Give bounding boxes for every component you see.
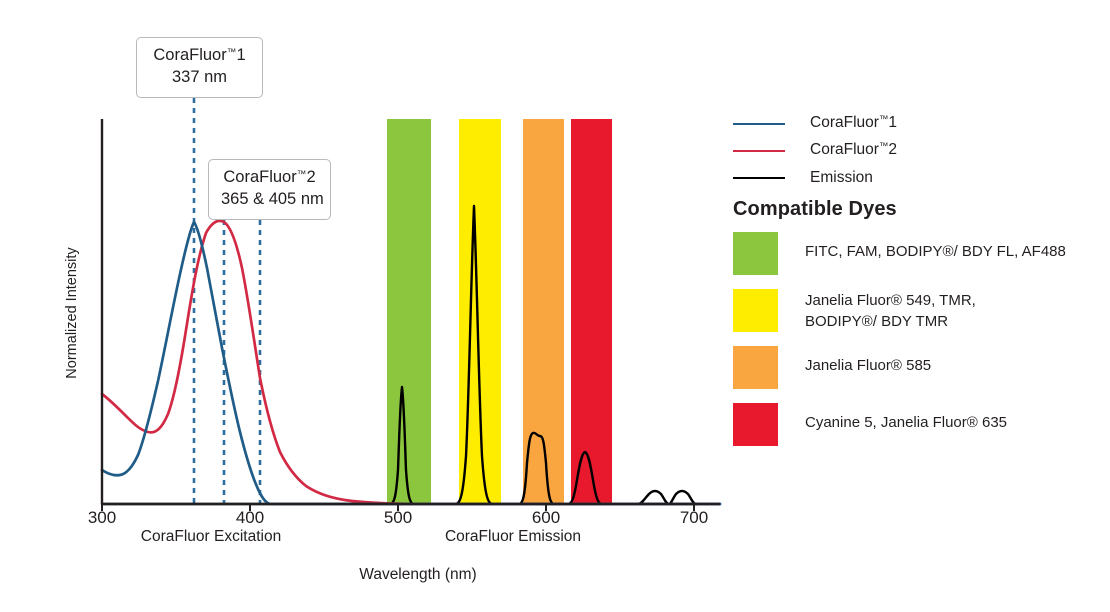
x-group-label-emission: CoraFluor Emission	[368, 528, 658, 546]
trademark-icon: ™	[297, 169, 307, 180]
trademark-icon: ™	[227, 47, 237, 58]
dye-item-yellow: Janelia Fluor® 549, TMR, BODIPY®/ BDY TM…	[730, 289, 1110, 332]
legend-item-emission: Emission	[730, 164, 1110, 191]
compatible-dyes-heading: Compatible Dyes	[733, 198, 897, 221]
legend-line-corafluor2	[733, 150, 785, 152]
x-tick-label-500: 500	[363, 508, 433, 528]
trademark-icon: ™	[879, 114, 889, 125]
x-tick-label-300: 300	[67, 508, 137, 528]
legend-line-corafluor1	[733, 123, 785, 125]
x-tick-label-600: 600	[511, 508, 581, 528]
callout-corafluor2: CoraFluor™2 365 & 405 nm	[208, 159, 331, 220]
dye-swatch-yellow	[733, 289, 778, 332]
callout-corafluor1-title: CoraFluor™1	[149, 45, 250, 67]
x-group-label-excitation: CoraFluor Excitation	[66, 528, 356, 546]
callout-corafluor2-title: CoraFluor™2	[221, 167, 318, 189]
callout-corafluor1-value: 337 nm	[149, 67, 250, 89]
chart-figure: CoraFluor™1 337 nm CoraFluor™2 365 & 405…	[0, 0, 730, 612]
dye-label-yellow: Janelia Fluor® 549, TMR, BODIPY®/ BDY TM…	[805, 289, 976, 332]
legend-label-corafluor2: CoraFluor™2	[810, 141, 897, 159]
x-tick-label-400: 400	[215, 508, 285, 528]
band-red	[571, 119, 612, 504]
legend-label-corafluor1: CoraFluor™1	[810, 114, 897, 132]
right-panel: CoraFluor™1 CoraFluor™2 Emission Compati…	[730, 0, 1110, 612]
dye-swatch-red	[733, 403, 778, 446]
legend-line-emission	[733, 177, 785, 179]
x-axis-title: Wavelength (nm)	[238, 566, 598, 584]
dye-label-red: Cyanine 5, Janelia Fluor® 635	[805, 403, 1007, 433]
legend-item-corafluor1: CoraFluor™1	[730, 110, 1110, 137]
trademark-icon: ™	[879, 141, 889, 152]
callout-corafluor2-value: 365 & 405 nm	[221, 189, 318, 211]
legend-item-corafluor2: CoraFluor™2	[730, 137, 1110, 164]
series-legend: CoraFluor™1 CoraFluor™2 Emission	[730, 110, 1110, 191]
dye-item-orange: Janelia Fluor® 585	[730, 346, 1110, 389]
dye-item-green: FITC, FAM, BODIPY®/ BDY FL, AF488	[730, 232, 1110, 275]
emission-bands	[387, 119, 612, 504]
dye-label-green: FITC, FAM, BODIPY®/ BDY FL, AF488	[805, 232, 1066, 262]
x-tick-label-700: 700	[659, 508, 729, 528]
dye-swatch-orange	[733, 346, 778, 389]
excitation-marker-lines	[194, 88, 260, 504]
dye-label-orange: Janelia Fluor® 585	[805, 346, 931, 376]
dye-swatch-green	[733, 232, 778, 275]
dye-label-yellow-line1: Janelia Fluor® 549, TMR,	[805, 292, 976, 309]
dye-label-yellow-line2: BODIPY®/ BDY TMR	[805, 313, 948, 330]
dye-item-red: Cyanine 5, Janelia Fluor® 635	[730, 403, 1110, 446]
band-green	[387, 119, 431, 504]
y-axis-title: Normalized Intensity	[64, 213, 80, 413]
legend-label-emission: Emission	[810, 169, 873, 187]
compatible-dyes-list: FITC, FAM, BODIPY®/ BDY FL, AF488 Janeli…	[730, 232, 1110, 460]
callout-corafluor1: CoraFluor™1 337 nm	[136, 37, 263, 98]
